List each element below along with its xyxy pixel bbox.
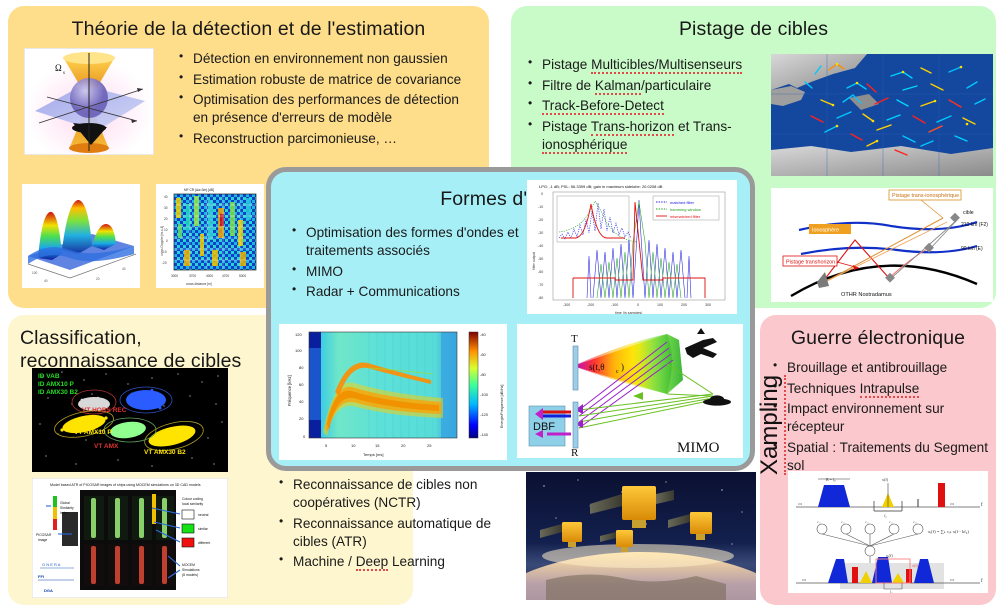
list-item: Pistage Trans-horizon et Trans-ionosphér… [525,118,763,154]
svg-text:c₁₁: c₁₁ [817,520,821,524]
svg-text:100: 100 [657,303,663,307]
svg-text:xᵢ(f) = ∑ₖ cᵢₖ x(f - kf₀): xᵢ(f) = ∑ₖ cᵢₖ x(f - kf₀) [928,529,969,534]
list-item: Impact environnement sur récepteur [770,400,992,436]
svg-text:R: R [571,447,579,458]
svg-text:•••: ••• [802,577,807,582]
cone-hyperboloid-figure: Ω s [24,48,154,155]
svg-text:120: 120 [295,332,302,337]
mimo-radar-diagram: T R DBF s(t,θ c ) MIMO [517,324,743,458]
svg-text:mismatched filter: mismatched filter [670,214,701,219]
svg-text:•••: ••• [798,501,803,506]
matched-filter-output-plot: LPG: -1 dB; PSL: 56.3399 dB; gain in max… [527,180,737,314]
svg-text:O N E R A: O N E R A [42,562,61,567]
svg-text:-60: -60 [538,270,543,274]
svg-text:60: 60 [299,382,304,387]
svg-text:Colour coding: Colour coding [182,497,203,501]
svg-text:DGA: DGA [44,588,53,593]
list-item: Optimisation des performances de détecti… [176,91,476,127]
svg-text:Similarity: Similarity [60,506,74,510]
pistage-bullet-list: Pistage Multicibles/Multisenseurs Filtre… [525,56,763,156]
list-item: MIMO [289,263,525,281]
classification-bullet-list: Reconnaissance de cibles non coopérative… [276,476,508,574]
svg-text:-20: -20 [538,218,543,222]
svg-text:Energie/Fréquence [dB/Hz]: Energie/Fréquence [dB/Hz] [500,385,504,428]
trans-ionospheric-tracking-diagram: Pistage trans-ionosphérique Ionosphère P… [771,188,993,302]
svg-text:x(f): x(f) [912,563,919,568]
xampling-diagram-figure: f x(f) B = f₀ ••• ••• f₀ [788,471,988,593]
panel-title-pistage: Pistage de cibles [511,18,996,41]
svg-text:(8 models): (8 models) [182,573,198,577]
svg-text:MIMO: MIMO [677,440,720,456]
svg-text:s: s [63,71,65,76]
svg-text:Fréquence [kHz]: Fréquence [kHz] [287,375,292,406]
panel-guerre-electronique: Guerre électronique Brouillage et antibr… [760,315,996,605]
panel-title-classification-line1: Classification, [20,327,142,349]
svg-text:Ω: Ω [55,63,62,73]
svg-text:4000: 4000 [206,274,213,278]
svg-text:20: 20 [164,217,168,221]
detection-bullet-list: Détection en environnement non gaussien … [176,50,476,150]
list-item: Techniques Intrapulse [770,380,992,398]
svg-text:-80: -80 [538,296,543,300]
svg-text:c: c [616,369,619,375]
svg-text:index: index [60,511,68,515]
svg-text:•••: ••• [950,577,955,582]
svg-text:-30: -30 [538,231,543,235]
svg-text:10: 10 [164,228,168,232]
list-item: Reconnaissance de cibles non coopérative… [276,476,508,512]
maritime-track-map-figure [771,54,993,176]
svg-text:-40: -40 [538,244,543,248]
svg-text:VT AMX10 P: VT AMX10 P [74,429,112,436]
svg-text:FFI: FFI [38,574,44,579]
satellite-constellation-figure [526,472,756,600]
svg-text:210 km (F2): 210 km (F2) [961,222,988,228]
svg-text:B = f₀: B = f₀ [826,477,836,482]
svg-text:T: T [571,333,578,345]
svg-text:Pistage transhorizon: Pistage transhorizon [786,260,835,266]
list-item: Détection en environnement non gaussien [176,50,476,68]
svg-text:-100: -100 [480,392,489,397]
list-item: Track-Before-Detect [525,97,763,115]
list-item: Optimisation des formes d'ondes et trait… [289,224,525,260]
svg-text:Simulations: Simulations [182,568,200,572]
svg-text:-20: -20 [162,261,167,265]
svg-text:MOCEM: MOCEM [182,563,195,567]
svg-text:4700: 4700 [222,274,229,278]
svg-text:•••: ••• [950,501,955,506]
list-item: Machine / Deep Learning [276,553,508,571]
svg-text:Temps [ms]: Temps [ms] [363,452,383,457]
svg-text:-40: -40 [480,332,487,337]
svg-text:-60: -60 [480,352,487,357]
panel-formes-d-ondes: Formes d'ondes Optimisation des formes d… [266,167,755,471]
svg-text:ID AMX30 B2: ID AMX30 B2 [38,389,78,396]
doppler-range-map-figure: MF CR (Δa=3m) [dB] [156,184,264,288]
svg-text:-80: -80 [480,372,487,377]
svg-text:20: 20 [96,277,100,281]
panel-title-detection: Théorie de la détection et de l'estimati… [8,18,489,41]
svg-text:PICOSAR: PICOSAR [36,533,52,537]
list-item: Pistage Multicibles/Multisenseurs [525,56,763,74]
formes-bullet-list: Optimisation des formes d'ondes et trait… [289,224,525,304]
svg-text:25: 25 [427,443,432,448]
list-item: Brouillage et antibrouillage [770,359,992,377]
svg-text:0: 0 [541,192,543,196]
panel-title-classification: Classification, reconnaissance de cibles [20,327,280,373]
svg-text:image: image [38,538,47,542]
svg-text:s(t,θ: s(t,θ [589,362,605,372]
model-based-atr-figure: Model based ATR of PICOSAR images of shi… [32,478,228,598]
svg-text:xᵢ(f): xᵢ(f) [886,553,893,558]
svg-text:5000: 5000 [239,274,246,278]
svg-text:-200: -200 [587,303,594,307]
slide-canvas: Théorie de la détection et de l'estimati… [0,0,1004,611]
svg-text:-10: -10 [538,205,543,209]
svg-text:VT AMX: VT AMX [94,443,119,450]
svg-text:OTHR Nostradamus: OTHR Nostradamus [841,292,892,298]
svg-text:3700: 3700 [189,274,196,278]
svg-text:15: 15 [375,443,380,448]
svg-text:40: 40 [122,267,126,271]
list-item: Estimation robuste de matrice de covaria… [176,71,476,89]
svg-text:-70: -70 [538,283,543,287]
svg-text:MF CR (Δa=3m) [dB]: MF CR (Δa=3m) [dB] [184,188,214,192]
svg-text:-120: -120 [480,412,489,417]
svg-text:c₁₅: c₁₅ [913,520,917,524]
svg-text:VT AMX30 B2: VT AMX30 B2 [144,449,186,456]
svg-text:20: 20 [299,416,304,421]
svg-text:different: different [198,541,210,545]
svg-text:ID VAB: ID VAB [38,373,60,380]
svg-text:100: 100 [295,348,302,353]
xampling-side-label: Xampling [756,375,786,475]
svg-text:40: 40 [164,195,168,199]
list-item: Spatial : Traitements du Segment sol [770,439,992,475]
isar-target-cluster-figure: ID VAB ID AMX10 P ID AMX30 B2 VT HORS RE… [32,368,228,472]
svg-text:-100: -100 [611,303,618,307]
svg-text:neutral: neutral [198,513,209,517]
svg-text:Global: Global [60,501,70,505]
list-item: Reconnaissance automatique de cibles (AT… [276,515,508,551]
svg-text:0: 0 [637,303,639,307]
svg-text:similar: similar [198,527,209,531]
svg-text:40: 40 [299,399,304,404]
svg-text:-140: -140 [480,432,489,437]
svg-text:Model based ATR of PICOSAR ima: Model based ATR of PICOSAR images of shi… [50,483,201,487]
svg-text:): ) [621,362,624,372]
svg-text:DBF: DBF [533,421,555,433]
svg-text:90 km (E): 90 km (E) [961,246,983,252]
svg-text:-300: -300 [563,303,570,307]
svg-text:x(f): x(f) [882,477,889,482]
svg-text:ID AMX10 P: ID AMX10 P [38,381,75,388]
svg-text:10: 10 [351,443,356,448]
svg-text:40: 40 [44,279,48,283]
svg-text:Pistage trans-ionosphérique: Pistage trans-ionosphérique [892,193,959,199]
svg-text:30: 30 [164,206,168,210]
list-item: Filtre de Kalman/particulaire [525,77,763,95]
svg-text:LPG: -1 dB; PSL: 56.3399 dB; g: LPG: -1 dB; PSL: 56.3399 dB; gain in max… [539,184,663,189]
list-item: Radar + Communications [289,283,525,301]
svg-text:hamming window: hamming window [670,207,701,212]
3d-surface-plot-figure: 100 40 20 40 [22,184,140,288]
svg-text:300: 300 [705,303,711,307]
svg-text:c₁₂: c₁₂ [841,520,845,524]
svg-text:3000: 3000 [171,274,178,278]
svg-text:-50: -50 [538,257,543,261]
svg-text:200: 200 [681,303,687,307]
guerre-bullet-list: Brouillage et antibrouillage Techniques … [770,359,992,477]
spectrogram-plot: 12010080 604020 0 51015 2025 Temps [ms] … [279,324,507,460]
svg-text:cible: cible [963,210,974,216]
svg-text:cross Doppler [m.s-1]: cross Doppler [m.s-1] [160,226,164,256]
svg-text:time (in samples): time (in samples) [615,311,642,314]
svg-text:local similarity: local similarity [182,502,203,506]
svg-text:100: 100 [32,271,38,275]
svg-text:VT HORS REC: VT HORS REC [82,407,127,414]
svg-text:matched filter: matched filter [670,200,695,205]
svg-text:0: 0 [166,239,168,243]
svg-text:filter output: filter output [532,252,536,270]
svg-text:80: 80 [299,365,304,370]
panel-title-guerre: Guerre électronique [760,327,996,350]
list-item: Reconstruction parcimonieuse, … [176,130,476,148]
svg-text:cross distance [m]: cross distance [m] [186,282,212,286]
svg-text:Ionosphère: Ionosphère [812,228,839,234]
svg-text:20: 20 [401,443,406,448]
